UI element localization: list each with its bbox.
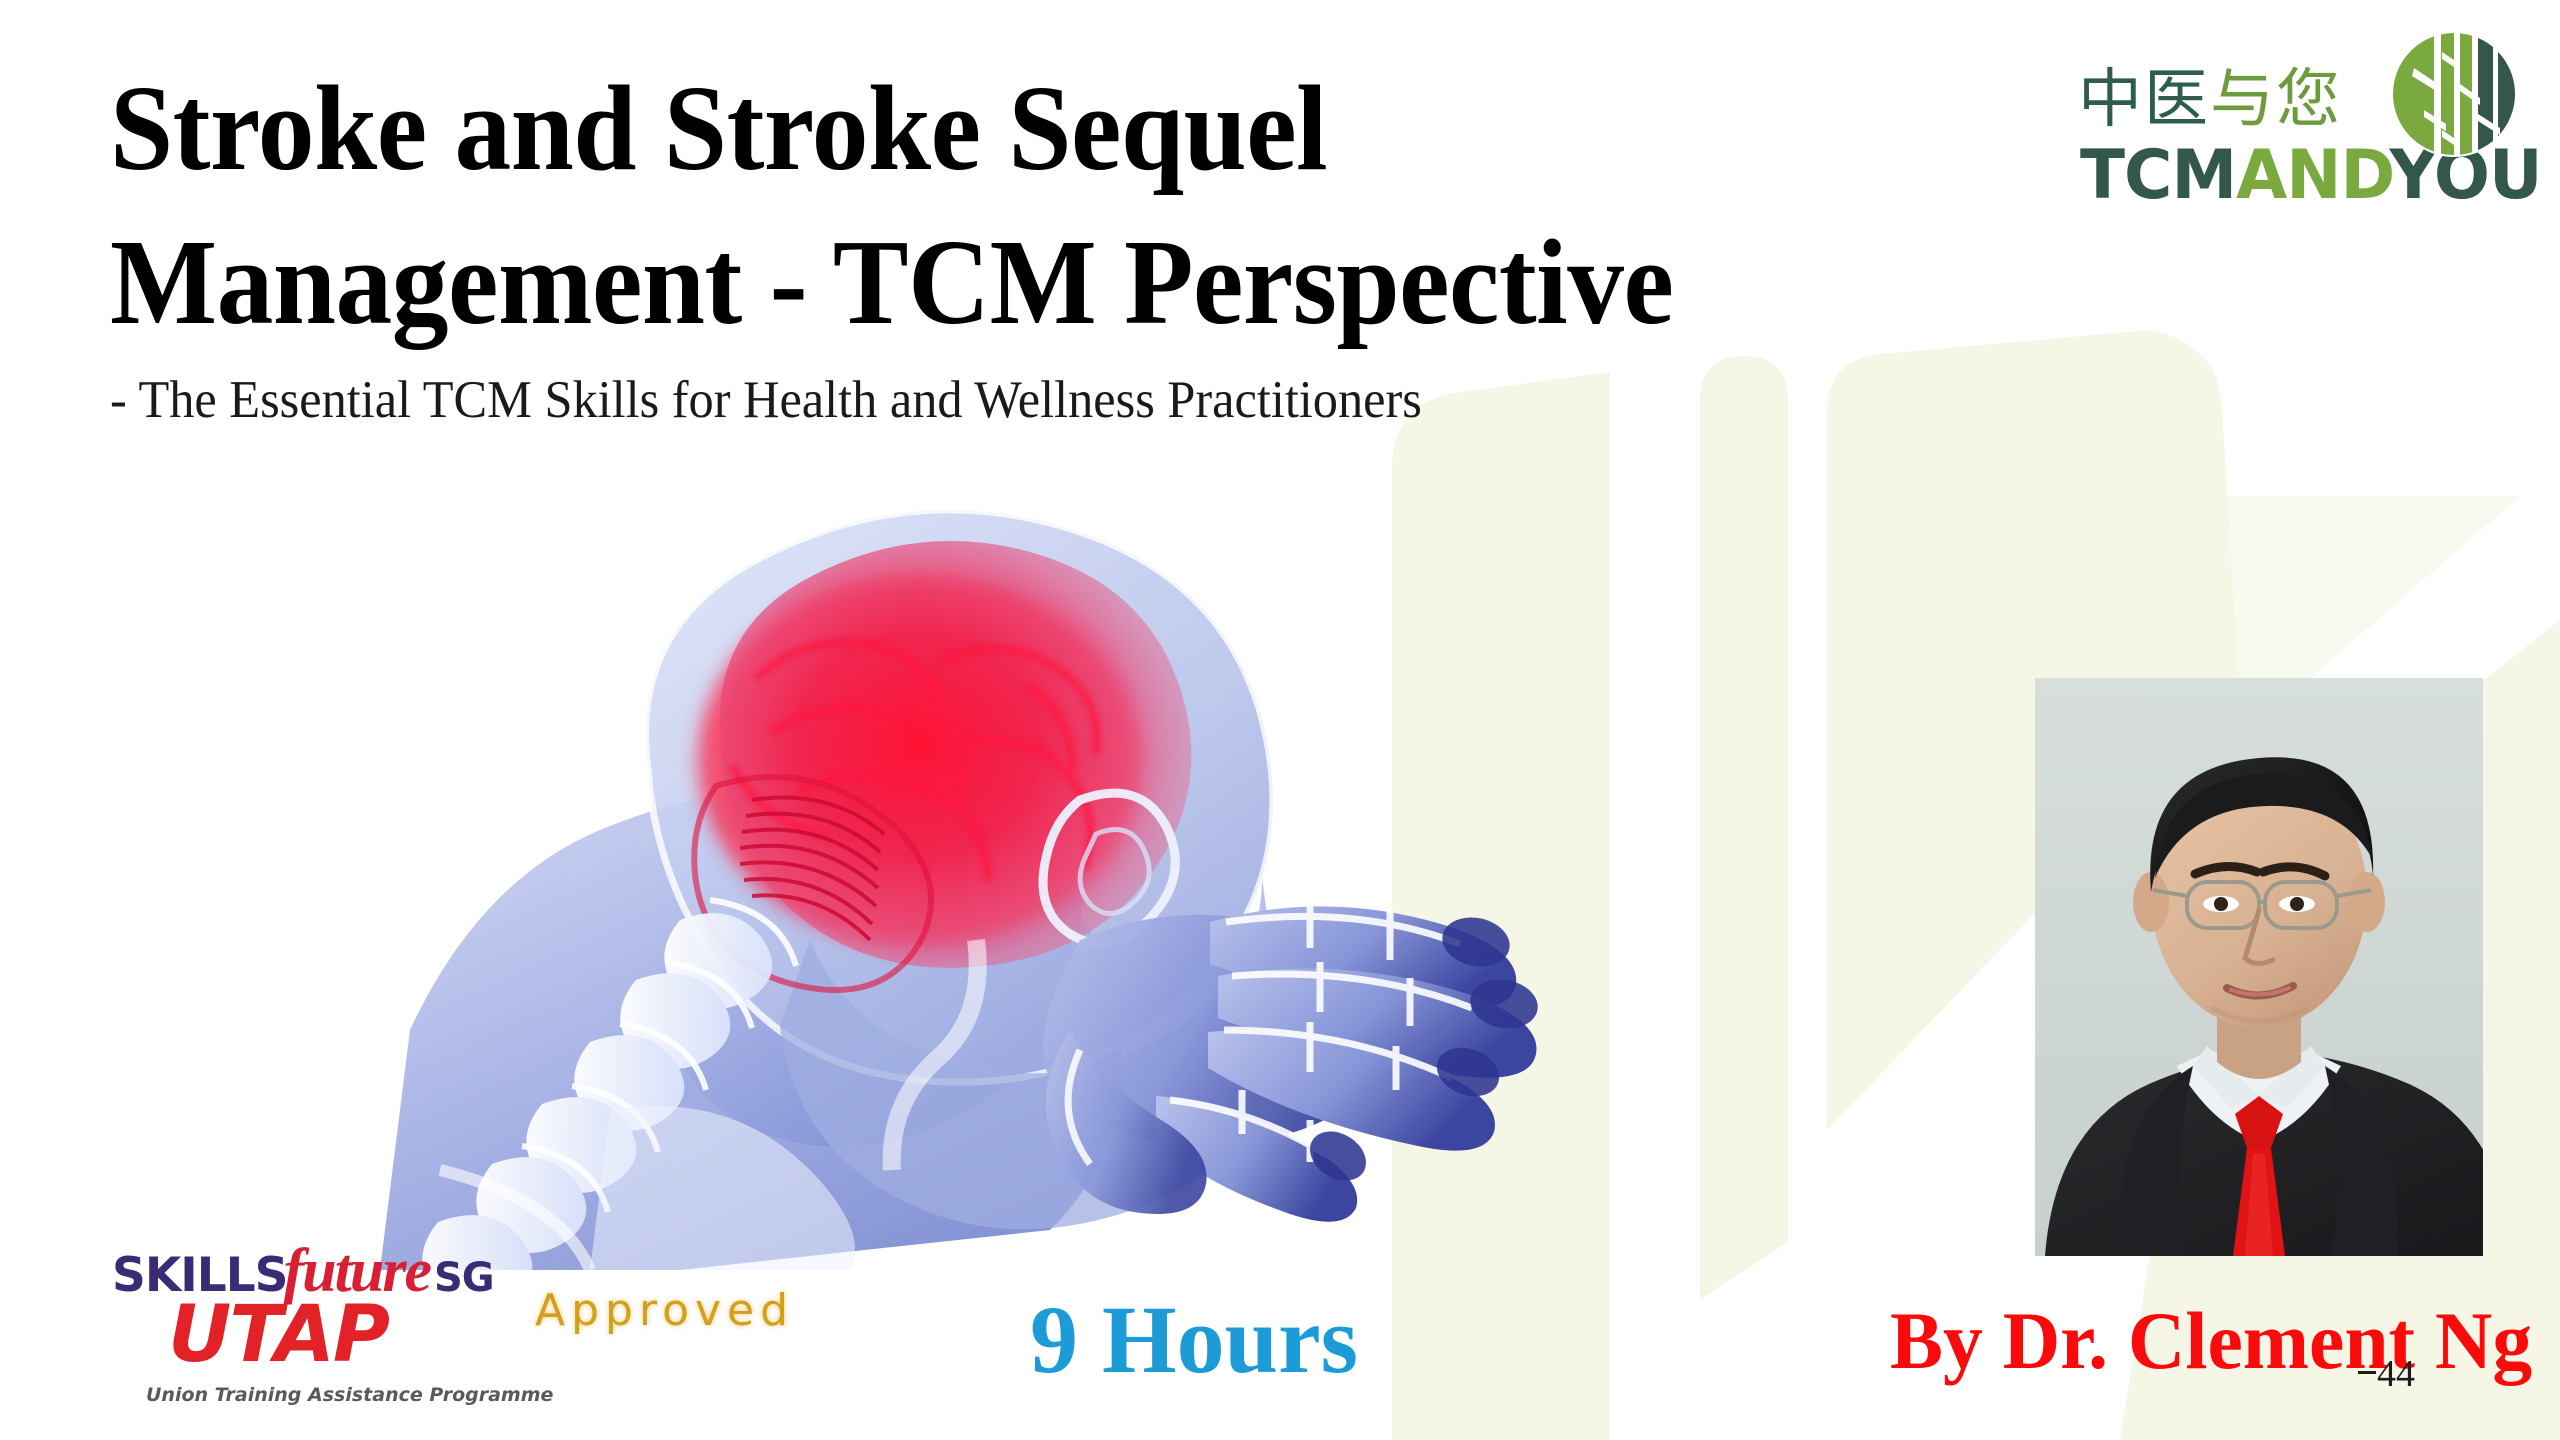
tcm-logo-chinese-text: 中医与您 xyxy=(2078,68,2342,132)
skillsfuture-wordmark: SKILLSfutureSG xyxy=(112,1236,494,1294)
tcm-logo-tcm: TCM xyxy=(2080,136,2236,215)
course-duration: 9 Hours xyxy=(1030,1292,1358,1388)
tcm-logo-and: AND xyxy=(2236,136,2389,215)
page-subtitle: - The Essential TCM Skills for Health an… xyxy=(110,371,1915,429)
page-title: Stroke and Stroke Sequel Management - TC… xyxy=(110,52,1877,359)
skillsfuture-utap-logo: SKILLSfutureSG UTAP Union Training Assis… xyxy=(112,1236,522,1416)
slide-number: 44 xyxy=(2358,1352,2415,1396)
skillsfuture-sg-text: SG xyxy=(434,1255,494,1301)
tcm-logo-chinese-part1: 中医 xyxy=(2078,63,2210,137)
presentation-slide: Stroke and Stroke Sequel Management - TC… xyxy=(0,0,2560,1440)
tcm-logo-chinese-part2: 与您 xyxy=(2210,63,2342,137)
medical-illustration-brain-stroke xyxy=(380,470,1610,1270)
presenter-name: By Dr. Clement Ng xyxy=(1890,1300,2532,1382)
slide-number-dash xyxy=(2358,1371,2376,1374)
approved-badge: Approved xyxy=(535,1285,794,1336)
title-block: Stroke and Stroke Sequel Management - TC… xyxy=(110,52,2010,430)
presenter-portrait xyxy=(2035,678,2483,1256)
utap-subtitle: Union Training Assistance Programme xyxy=(146,1384,553,1406)
bamboo-circle-emblem-icon xyxy=(2390,30,2518,158)
tcm-and-you-logo: 中医与您 TCMANDYOU xyxy=(2078,30,2518,230)
slide-number-value: 44 xyxy=(2377,1353,2415,1395)
utap-wordmark: UTAP xyxy=(168,1296,388,1374)
